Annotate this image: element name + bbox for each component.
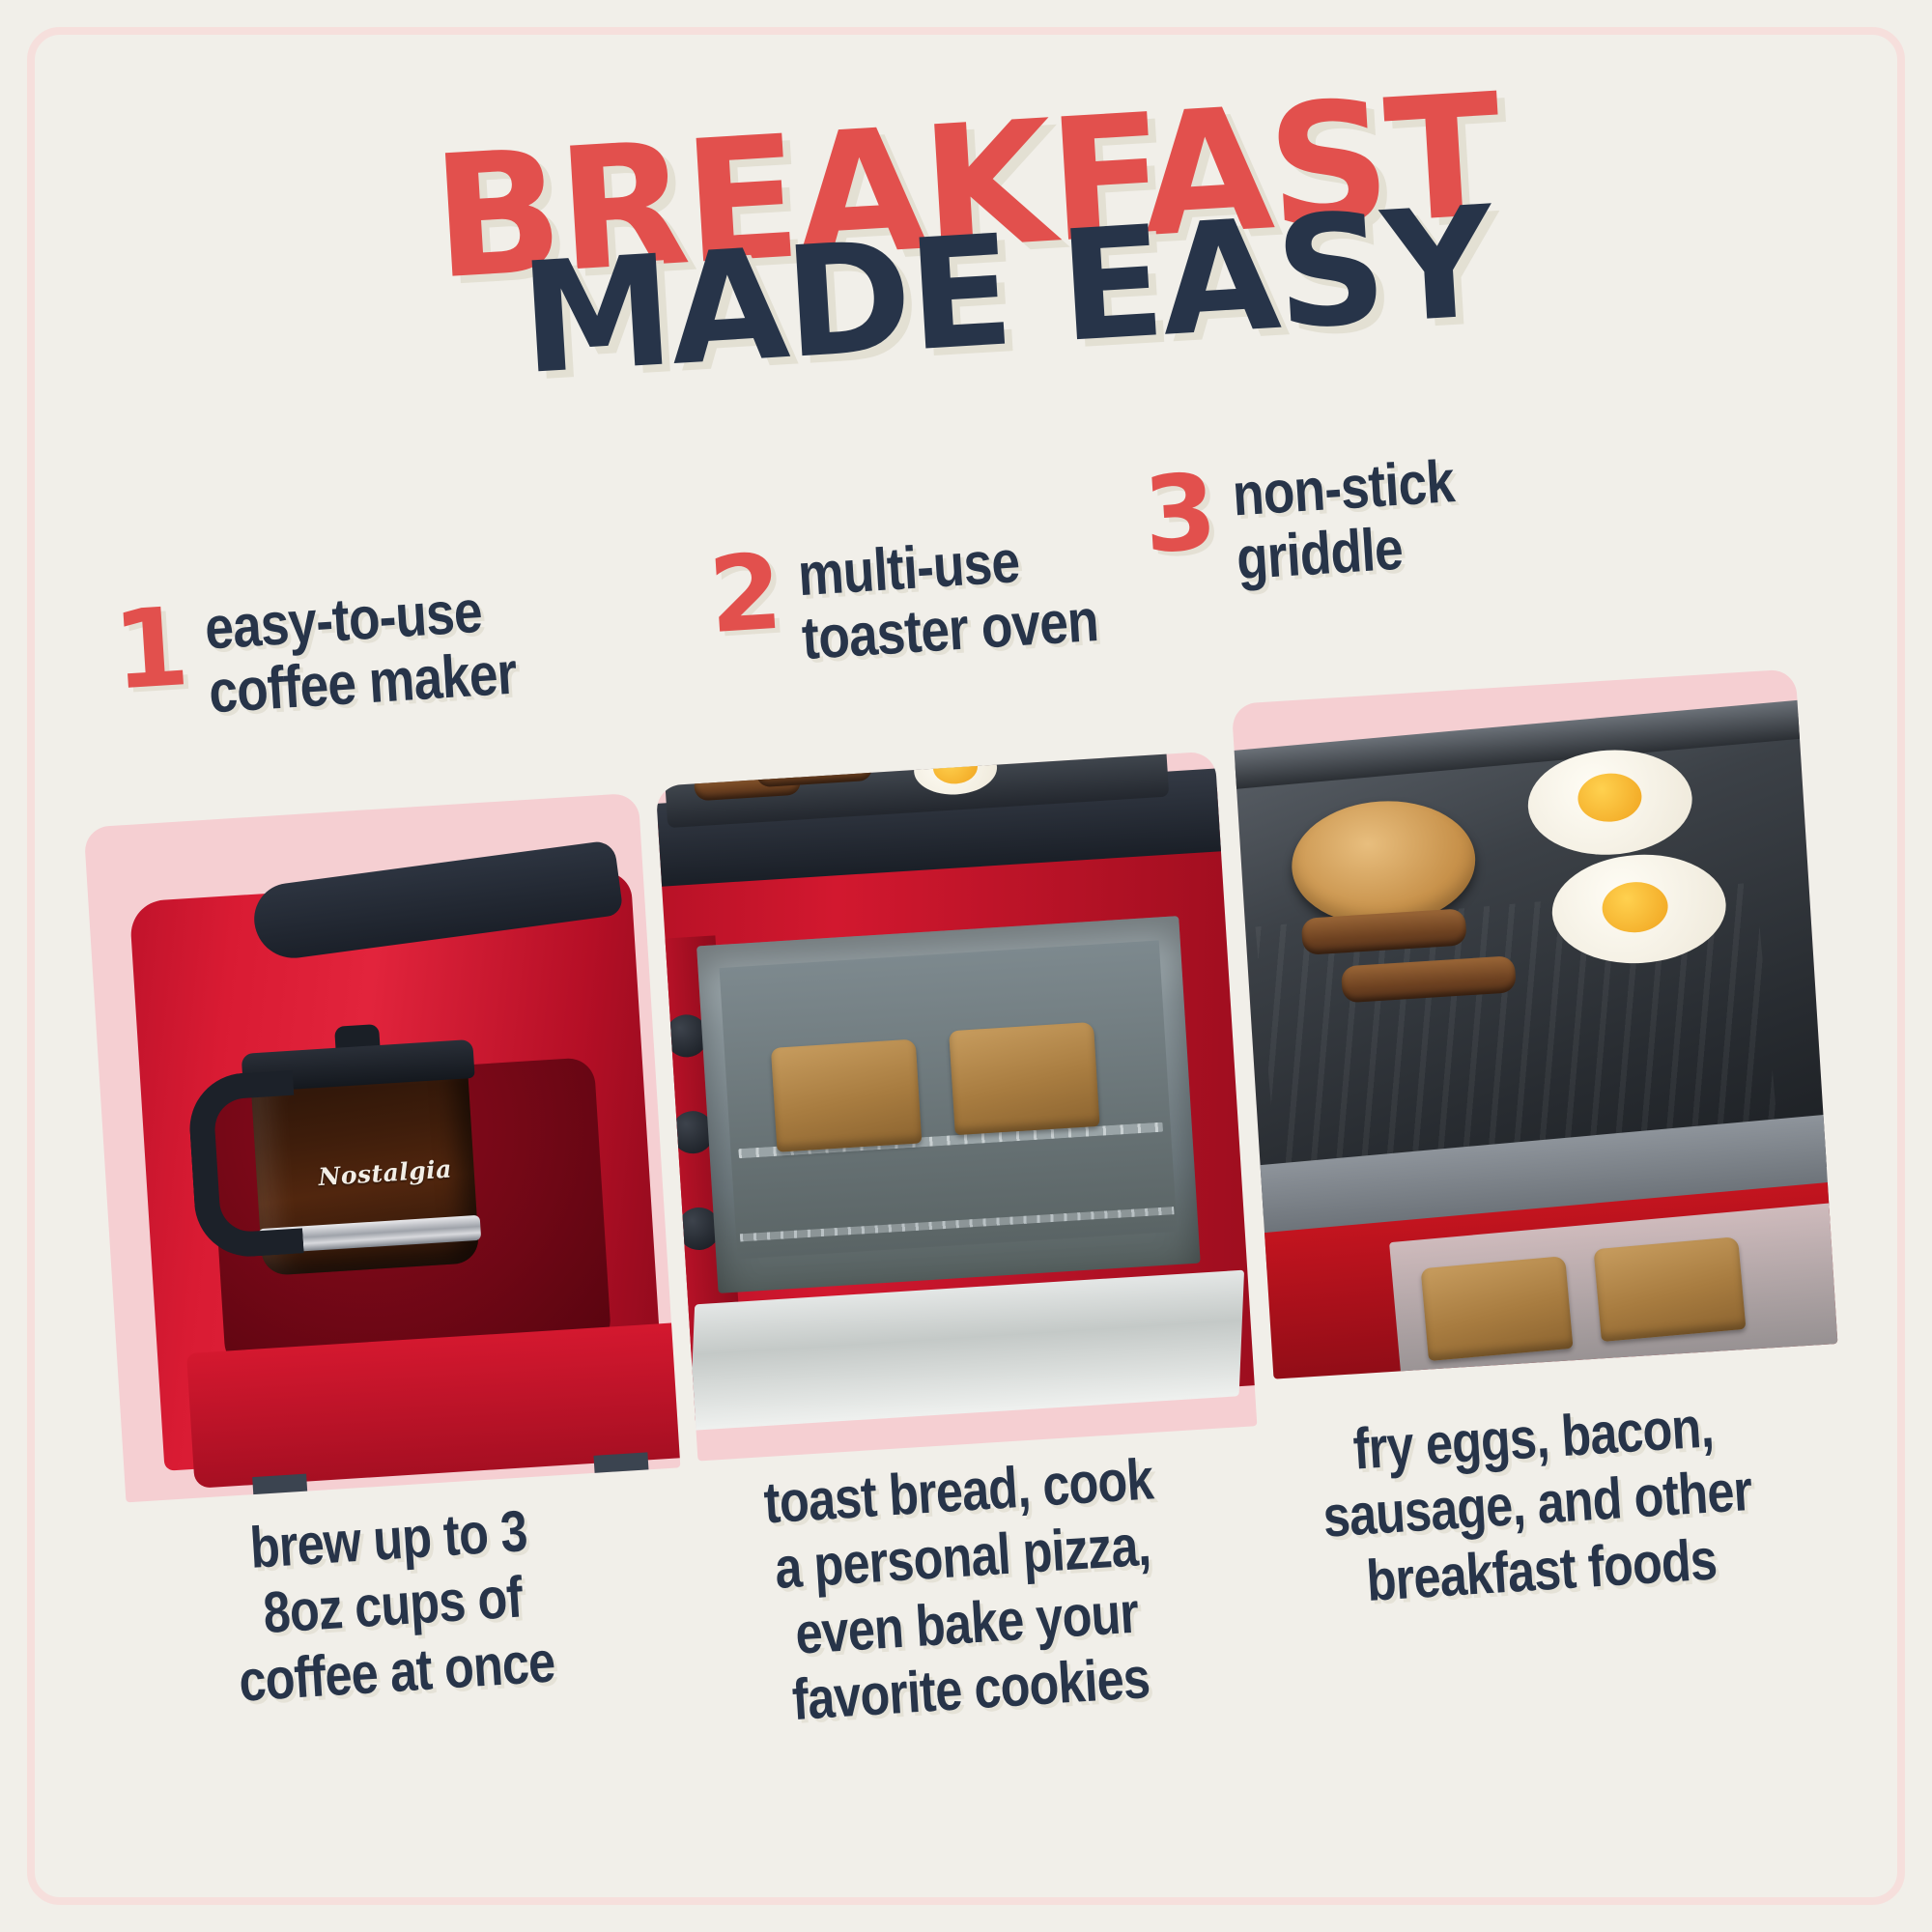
feature-heading-3: 3 non-stick griddle	[1141, 448, 1495, 597]
toaster-oven-body	[656, 787, 1258, 1421]
griddle-toast-left	[1421, 1256, 1574, 1361]
product-photo-coffee-maker: Nostalgia	[84, 793, 681, 1503]
toaster-oven-open-door	[690, 1270, 1244, 1431]
feature-number-3: 3	[1141, 466, 1219, 564]
product-photo-griddle	[1232, 668, 1838, 1378]
griddle-toast-right	[1594, 1236, 1747, 1342]
caption-toaster-oven: toast bread, cook a personal pizza, even…	[677, 1441, 1253, 1740]
feature-heading-1: 1 easy-to-use coffee maker	[110, 575, 568, 729]
infographic-root: BREAKFAST MADE EASY 1 easy-to-use coffee…	[0, 0, 1932, 1932]
product-photo-toaster-oven	[656, 751, 1258, 1461]
caption-coffee-maker: brew up to 3 8oz cups of coffee at once	[117, 1490, 669, 1721]
carafe-handle	[186, 1070, 304, 1261]
headline-line-made-easy: MADE EASY	[518, 197, 1494, 385]
feature-heading-2: 2 multi-use toaster oven	[706, 523, 1148, 676]
coffee-maker-foot-right	[593, 1452, 649, 1488]
glass-carafe: Nostalgia	[191, 1045, 487, 1314]
headline-block: BREAKFAST MADE EASY	[0, 116, 1932, 392]
feature-number-1: 1	[110, 599, 191, 700]
coffee-maker-foot-left	[252, 1474, 308, 1503]
feature-title-3-line2: griddle	[1235, 514, 1460, 591]
caption-griddle: fry eggs, bacon, sausage, and other brea…	[1247, 1387, 1829, 1621]
toast-slice-right	[949, 1022, 1099, 1135]
toast-slice-left	[771, 1039, 922, 1152]
sausage-link-2	[755, 753, 873, 787]
toaster-oven-cavity	[696, 916, 1201, 1293]
feature-number-2: 2	[706, 546, 784, 644]
